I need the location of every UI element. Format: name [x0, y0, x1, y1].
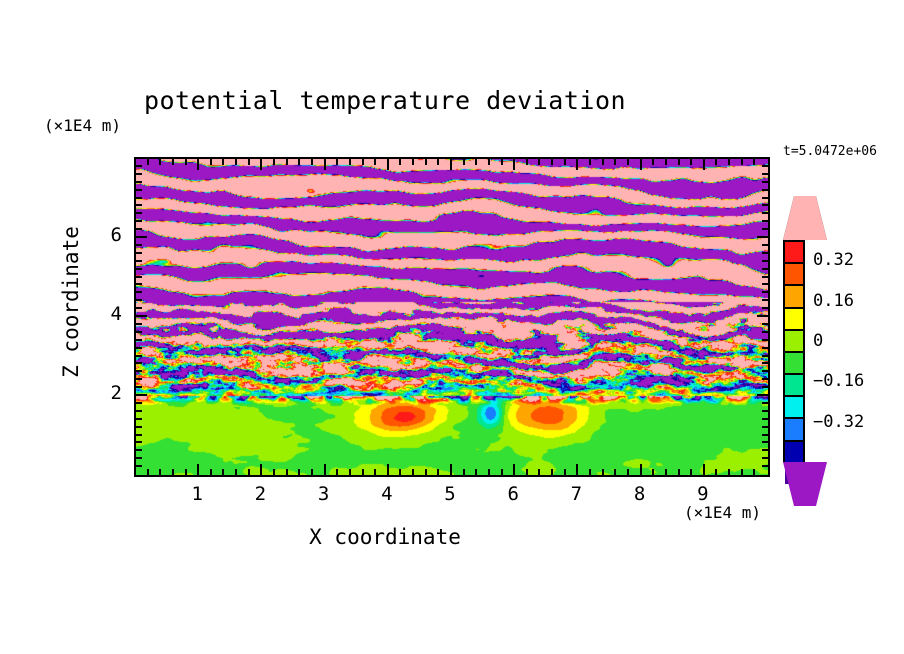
- y-tick-right: [762, 457, 768, 459]
- y-tick: [136, 315, 147, 317]
- x-tick-top: [513, 159, 515, 170]
- x-tick-top: [463, 159, 465, 165]
- x-tick: [399, 469, 401, 475]
- colorbar-band: [785, 242, 803, 264]
- y-tick-right: [762, 465, 768, 467]
- y-tick: [136, 434, 142, 436]
- x-tick-label: 7: [556, 483, 596, 505]
- x-tick-top: [197, 159, 199, 170]
- x-tick-top: [589, 159, 591, 165]
- colorbar: [783, 240, 805, 462]
- y-tick: [136, 236, 147, 238]
- x-tick: [475, 469, 477, 475]
- y-tick-right: [762, 228, 768, 230]
- x-tick-label: 2: [240, 483, 280, 505]
- y-tick: [136, 410, 142, 412]
- x-tick: [488, 469, 490, 475]
- y-tick: [136, 204, 142, 206]
- y-tick: [136, 394, 147, 396]
- y-tick-right: [762, 386, 768, 388]
- y-tick-right: [762, 212, 768, 214]
- x-tick: [210, 469, 212, 475]
- y-tick-right: [762, 418, 768, 420]
- x-tick: [501, 469, 503, 475]
- x-tick: [652, 469, 654, 475]
- y-tick: [136, 189, 142, 191]
- x-tick-top: [425, 159, 427, 165]
- y-tick-right: [762, 268, 768, 270]
- y-tick: [136, 362, 142, 364]
- x-tick-top: [753, 159, 755, 165]
- x-tick-top: [538, 159, 540, 165]
- time-annotation: t=5.0472e+06: [783, 144, 877, 159]
- y-tick-right: [757, 315, 768, 317]
- y-tick-right: [762, 449, 768, 451]
- y-tick-right: [762, 410, 768, 412]
- x-tick-top: [235, 159, 237, 165]
- y-tick: [136, 465, 142, 467]
- x-tick: [311, 469, 313, 475]
- y-tick-right: [762, 339, 768, 341]
- y-tick: [136, 323, 142, 325]
- y-tick-right: [762, 331, 768, 333]
- y-tick: [136, 449, 142, 451]
- y-tick-right: [762, 173, 768, 175]
- y-tick: [136, 331, 142, 333]
- x-tick: [336, 469, 338, 475]
- y-tick-right: [762, 323, 768, 325]
- y-tick-right: [762, 283, 768, 285]
- x-tick: [324, 464, 326, 475]
- x-tick-top: [501, 159, 503, 165]
- y-tick-label: 2: [82, 382, 122, 404]
- y-tick-right: [762, 260, 768, 262]
- x-tick: [614, 469, 616, 475]
- y-tick-right: [762, 441, 768, 443]
- y-tick-label: 6: [82, 224, 122, 246]
- x-tick: [538, 469, 540, 475]
- x-tick: [526, 469, 528, 475]
- figure-root: potential temperature deviation (×1E4 m)…: [0, 0, 904, 654]
- x-tick: [235, 469, 237, 475]
- x-tick: [665, 469, 667, 475]
- x-tick: [286, 469, 288, 475]
- x-tick-top: [311, 159, 313, 165]
- colorbar-tick-label: −0.32: [813, 412, 864, 432]
- y-tick-right: [762, 197, 768, 199]
- y-tick-right: [762, 370, 768, 372]
- x-tick-top: [488, 159, 490, 165]
- y-tick-right: [762, 244, 768, 246]
- x-tick-top: [741, 159, 743, 165]
- x-tick: [715, 469, 717, 475]
- x-tick-top: [690, 159, 692, 165]
- x-tick-top: [324, 159, 326, 170]
- x-tick: [260, 464, 262, 475]
- y-tick: [136, 276, 142, 278]
- x-tick-top: [412, 159, 414, 165]
- x-tick: [412, 469, 414, 475]
- y-axis-title: Z coordinate: [59, 207, 83, 397]
- x-tick-top: [159, 159, 161, 165]
- y-tick: [136, 228, 142, 230]
- y-tick-right: [762, 347, 768, 349]
- x-tick: [349, 469, 351, 475]
- colorbar-band: [785, 331, 803, 353]
- x-tick-top: [678, 159, 680, 165]
- x-tick: [551, 469, 553, 475]
- x-tick-top: [665, 159, 667, 165]
- colorbar-band: [785, 309, 803, 331]
- colorbar-band: [785, 264, 803, 286]
- x-tick: [703, 464, 705, 475]
- y-tick-right: [762, 181, 768, 183]
- colorbar-band: [785, 286, 803, 308]
- y-tick: [136, 378, 142, 380]
- x-tick-top: [564, 159, 566, 165]
- colorbar-over-arrow: [783, 196, 827, 240]
- x-axis-title: X coordinate: [0, 525, 770, 549]
- x-tick: [172, 469, 174, 475]
- x-tick: [576, 464, 578, 475]
- x-tick-label: 4: [367, 483, 407, 505]
- x-tick-top: [715, 159, 717, 165]
- x-tick-label: 5: [430, 483, 470, 505]
- y-tick: [136, 386, 142, 388]
- x-tick: [147, 469, 149, 475]
- x-tick: [425, 469, 427, 475]
- y-tick-right: [762, 426, 768, 428]
- y-axis-unit-label: (×1E4 m): [44, 116, 121, 135]
- colorbar-band: [785, 375, 803, 397]
- x-tick-top: [475, 159, 477, 165]
- x-tick-label: 1: [177, 483, 217, 505]
- x-tick: [197, 464, 199, 475]
- x-tick-top: [147, 159, 149, 165]
- x-tick-top: [374, 159, 376, 165]
- colorbar-under-arrow: [783, 462, 827, 506]
- y-tick: [136, 307, 142, 309]
- y-tick-right: [762, 434, 768, 436]
- x-tick-top: [273, 159, 275, 165]
- y-tick-right: [762, 165, 768, 167]
- x-tick-label: 9: [683, 483, 723, 505]
- y-tick-right: [762, 252, 768, 254]
- page-title: potential temperature deviation: [0, 86, 770, 115]
- x-tick: [450, 464, 452, 475]
- x-tick: [273, 469, 275, 475]
- y-tick: [136, 370, 142, 372]
- x-tick: [741, 469, 743, 475]
- x-tick-top: [185, 159, 187, 165]
- y-tick-right: [762, 355, 768, 357]
- x-tick-top: [450, 159, 452, 170]
- x-tick-top: [336, 159, 338, 165]
- colorbar-band: [785, 397, 803, 419]
- x-tick: [728, 469, 730, 475]
- x-tick: [463, 469, 465, 475]
- x-tick: [298, 469, 300, 475]
- x-tick-top: [614, 159, 616, 165]
- colorbar-tick-label: −0.16: [813, 371, 864, 391]
- x-tick: [248, 469, 250, 475]
- y-tick: [136, 173, 142, 175]
- x-tick: [513, 464, 515, 475]
- y-tick-right: [762, 362, 768, 364]
- y-tick-right: [762, 291, 768, 293]
- y-tick-label: 4: [82, 303, 122, 325]
- x-tick-top: [526, 159, 528, 165]
- x-tick-label: 6: [493, 483, 533, 505]
- y-tick-right: [757, 394, 768, 396]
- colorbar-tick-label: 0.32: [813, 250, 854, 270]
- colorbar-band: [785, 353, 803, 375]
- x-tick-top: [286, 159, 288, 165]
- y-tick: [136, 402, 142, 404]
- y-tick: [136, 347, 142, 349]
- x-tick: [589, 469, 591, 475]
- y-tick: [136, 355, 142, 357]
- y-tick: [136, 212, 142, 214]
- colorbar-band: [785, 442, 803, 464]
- x-tick-top: [652, 159, 654, 165]
- x-tick-top: [399, 159, 401, 165]
- y-tick: [136, 299, 142, 301]
- colorbar-band: [785, 419, 803, 441]
- colorbar-tick-label: 0: [813, 331, 823, 351]
- contour-plot-area: [134, 157, 770, 477]
- contour-canvas: [136, 159, 768, 475]
- y-tick-right: [762, 220, 768, 222]
- y-tick-right: [762, 307, 768, 309]
- colorbar-tick-label: 0.16: [813, 291, 854, 311]
- y-tick: [136, 165, 142, 167]
- x-tick-top: [551, 159, 553, 165]
- x-tick: [602, 469, 604, 475]
- x-tick-top: [627, 159, 629, 165]
- x-tick: [753, 469, 755, 475]
- x-tick-top: [349, 159, 351, 165]
- y-tick: [136, 244, 142, 246]
- x-tick: [185, 469, 187, 475]
- y-tick: [136, 181, 142, 183]
- y-tick-right: [757, 236, 768, 238]
- x-tick-top: [437, 159, 439, 165]
- y-tick: [136, 268, 142, 270]
- y-tick: [136, 260, 142, 262]
- y-tick: [136, 220, 142, 222]
- x-tick-top: [298, 159, 300, 165]
- x-tick-top: [260, 159, 262, 170]
- y-tick-right: [762, 299, 768, 301]
- y-tick: [136, 197, 142, 199]
- y-tick: [136, 441, 142, 443]
- y-tick-right: [762, 189, 768, 191]
- y-tick: [136, 457, 142, 459]
- x-tick-top: [703, 159, 705, 170]
- x-tick: [627, 469, 629, 475]
- x-axis-unit-label: (×1E4 m): [684, 503, 761, 522]
- x-tick-label: 8: [620, 483, 660, 505]
- x-tick: [387, 464, 389, 475]
- x-tick: [362, 469, 364, 475]
- x-tick: [222, 469, 224, 475]
- x-tick-label: 3: [304, 483, 344, 505]
- x-tick-top: [362, 159, 364, 165]
- y-tick-right: [762, 276, 768, 278]
- x-tick: [678, 469, 680, 475]
- y-tick: [136, 418, 142, 420]
- x-tick: [159, 469, 161, 475]
- x-tick: [564, 469, 566, 475]
- x-tick-top: [387, 159, 389, 170]
- x-tick-top: [222, 159, 224, 165]
- y-tick: [136, 291, 142, 293]
- x-tick: [437, 469, 439, 475]
- y-tick: [136, 283, 142, 285]
- y-tick: [136, 426, 142, 428]
- y-tick: [136, 339, 142, 341]
- y-tick-right: [762, 402, 768, 404]
- x-tick: [374, 469, 376, 475]
- y-tick-right: [762, 378, 768, 380]
- x-tick-top: [728, 159, 730, 165]
- y-tick-right: [762, 204, 768, 206]
- x-tick: [690, 469, 692, 475]
- x-tick-top: [602, 159, 604, 165]
- x-tick-top: [640, 159, 642, 170]
- x-tick-top: [248, 159, 250, 165]
- x-tick-top: [576, 159, 578, 170]
- x-tick: [640, 464, 642, 475]
- x-tick-top: [210, 159, 212, 165]
- y-tick: [136, 252, 142, 254]
- x-tick-top: [172, 159, 174, 165]
